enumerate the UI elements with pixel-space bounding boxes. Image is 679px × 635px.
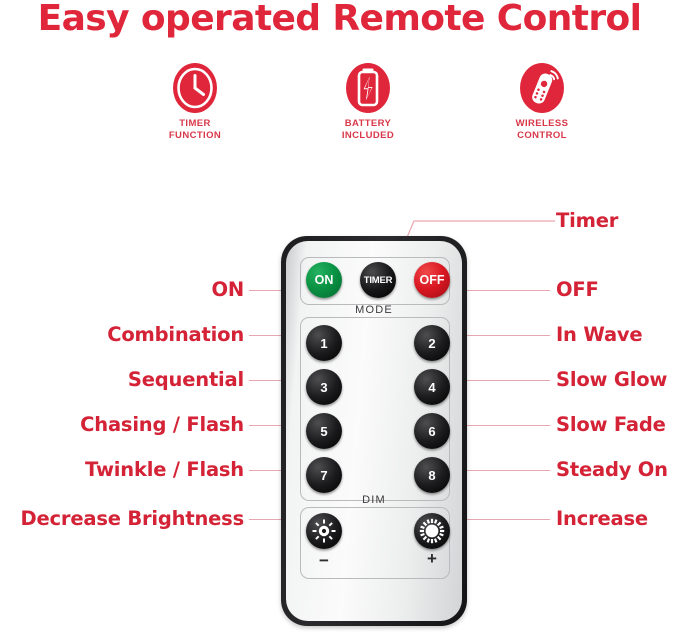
remote-control-device: ON TIMER OFF MODE 1 2 3 4 5 6 7 8 DIM bbox=[281, 236, 467, 626]
sun-large-icon bbox=[419, 518, 445, 544]
leader-line-off bbox=[466, 290, 550, 291]
dim-increase-button[interactable] bbox=[414, 513, 450, 549]
leader-line-steady-on bbox=[466, 470, 550, 471]
callout-label-slow-glow: Slow Glow bbox=[556, 370, 667, 390]
callout-label-decrease-brightness: Decrease Brightness bbox=[0, 509, 244, 529]
leader-line-slow-glow bbox=[466, 380, 550, 381]
mode-button-6[interactable]: 6 bbox=[414, 413, 450, 449]
feature-label-line2: INCLUDED bbox=[342, 130, 394, 141]
remote-faceplate: ON TIMER OFF MODE 1 2 3 4 5 6 7 8 DIM bbox=[286, 241, 462, 621]
sun-small-icon bbox=[311, 518, 337, 544]
feature-wireless-control: WIRELESS CONTROL bbox=[477, 62, 607, 141]
callout-label-sequential: Sequential bbox=[0, 370, 244, 390]
callout-label-increase: Increase bbox=[556, 509, 648, 529]
feature-label-line1: TIMER bbox=[179, 118, 211, 129]
feature-label-line2: CONTROL bbox=[517, 130, 567, 141]
battery-icon bbox=[345, 62, 391, 114]
feature-battery-included: BATTERY INCLUDED bbox=[303, 62, 433, 141]
callout-label-slow-fade: Slow Fade bbox=[556, 415, 666, 435]
leader-line-in-wave bbox=[466, 335, 550, 336]
feature-label: WIRELESS CONTROL bbox=[477, 118, 607, 141]
callout-label-combination: Combination bbox=[0, 325, 244, 345]
wireless-remote-icon bbox=[519, 62, 565, 114]
mode-button-7[interactable]: 7 bbox=[306, 457, 342, 493]
dim-decrease-sign: − bbox=[306, 553, 342, 569]
feature-label: BATTERY INCLUDED bbox=[303, 118, 433, 141]
timer-clock-icon bbox=[172, 62, 218, 114]
feature-timer-function: TIMER FUNCTION bbox=[130, 62, 260, 141]
on-button[interactable]: ON bbox=[306, 262, 342, 298]
callout-label-twinkle-flash: Twinkle / Flash bbox=[0, 460, 244, 480]
dim-decrease-button[interactable] bbox=[306, 513, 342, 549]
callout-label-in-wave: In Wave bbox=[556, 325, 642, 345]
page-title: Easy operated Remote Control bbox=[0, 0, 679, 39]
feature-label-line1: BATTERY bbox=[345, 118, 392, 129]
infographic-canvas: Easy operated Remote Control TIMER FUNCT… bbox=[0, 0, 679, 635]
feature-label: TIMER FUNCTION bbox=[130, 118, 260, 141]
dim-section-label: DIM bbox=[286, 494, 462, 506]
callout-label-on: ON bbox=[0, 280, 244, 300]
callout-label-timer: Timer bbox=[556, 211, 618, 231]
off-button[interactable]: OFF bbox=[414, 262, 450, 298]
leader-line-slow-fade bbox=[466, 425, 550, 426]
mode-button-4[interactable]: 4 bbox=[414, 369, 450, 405]
callout-label-steady-on: Steady On bbox=[556, 460, 668, 480]
mode-button-3[interactable]: 3 bbox=[306, 369, 342, 405]
feature-badge-row: TIMER FUNCTION BATTERY INCLUDED bbox=[0, 62, 679, 157]
leader-line-increase bbox=[466, 519, 550, 520]
mode-section-label: MODE bbox=[286, 304, 462, 316]
feature-label-line1: WIRELESS bbox=[516, 118, 569, 129]
callout-label-chasing-flash: Chasing / Flash bbox=[0, 415, 244, 435]
feature-label-line2: FUNCTION bbox=[169, 130, 221, 141]
mode-button-8[interactable]: 8 bbox=[414, 457, 450, 493]
mode-button-5[interactable]: 5 bbox=[306, 413, 342, 449]
mode-button-1[interactable]: 1 bbox=[306, 325, 342, 361]
timer-button[interactable]: TIMER bbox=[360, 262, 396, 298]
callout-label-off: OFF bbox=[556, 280, 599, 300]
mode-button-2[interactable]: 2 bbox=[414, 325, 450, 361]
dim-increase-sign: + bbox=[414, 551, 450, 567]
